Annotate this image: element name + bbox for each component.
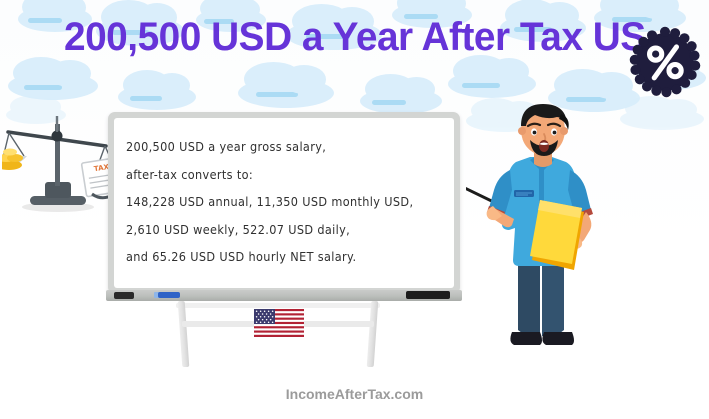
whiteboard: 200,500 USD a year gross salary, after-t…: [108, 112, 460, 294]
cloud-icon: [118, 84, 196, 110]
cloud-icon: [392, 2, 472, 28]
balance-scale-icon: TAX: [2, 108, 114, 216]
cloud-icon: [620, 108, 704, 130]
board-text-line: 2,610 USD weekly, 522.07 USD daily,: [126, 215, 442, 246]
blue-marker-icon: [158, 292, 180, 298]
cloud-icon: [360, 88, 442, 114]
cloud-icon: [238, 78, 334, 108]
cloud-icon: [196, 8, 266, 32]
eraser-icon: [114, 292, 134, 299]
board-text-line: and 65.26 USD USD hourly NET salary.: [126, 242, 442, 273]
cloud-icon: [286, 20, 382, 50]
whiteboard-group: 200,500 USD a year gross salary, after-t…: [108, 112, 464, 360]
board-text-line: 148,228 USD annual, 11,350 USD monthly U…: [126, 187, 442, 218]
percent-badge: [629, 26, 701, 98]
cloud-icon: [18, 6, 92, 32]
cloud-icon: [96, 16, 184, 46]
stand-leg-left: [178, 301, 190, 367]
gold-coins-icon: [2, 149, 23, 171]
whiteboard-stand: [160, 301, 396, 367]
cloud-icon: [500, 14, 586, 42]
cloud-icon: [448, 70, 536, 98]
black-marker-icon: [406, 291, 450, 299]
board-text-line: 200,500 USD a year gross salary,: [126, 132, 442, 163]
infographic-canvas: 200,500 USD a Year After Tax US: [0, 0, 709, 419]
marker-tray: [106, 290, 462, 301]
stand-leg-right: [367, 301, 379, 367]
board-text-line: after-tax converts to:: [126, 160, 442, 191]
stand-top-bar: [176, 303, 380, 308]
us-flag-icon: [254, 309, 304, 337]
teacher-illustration: [466, 104, 626, 366]
site-footer: IncomeAfterTax.com: [0, 386, 709, 402]
whiteboard-surface: 200,500 USD a year gross salary, after-t…: [114, 118, 454, 288]
